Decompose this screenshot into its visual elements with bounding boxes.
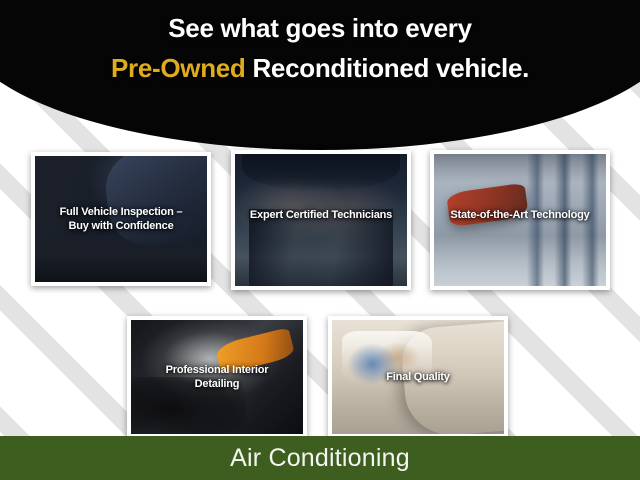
card-professional-interior-detailing[interactable]: Professional Interior Detailing: [127, 316, 307, 438]
headline-line-2: Pre-Owned Reconditioned vehicle.: [0, 50, 640, 86]
footer-banner: Air Conditioning: [0, 436, 640, 480]
card-caption-line-1: Final Quality: [386, 371, 449, 383]
card-caption: Final Quality: [336, 370, 500, 384]
card-final-quality[interactable]: Final Quality: [328, 316, 508, 438]
card-caption-line-1: State-of-the-Art Technology: [450, 209, 589, 221]
header-content: See what goes into every Pre-Owned Recon…: [0, 0, 640, 150]
card-caption: State-of-the-Art Technology: [438, 208, 602, 222]
promo-graphic: See what goes into every Pre-Owned Recon…: [0, 0, 640, 480]
card-caption-line-2: Detailing: [195, 378, 240, 390]
card-caption: Professional Interior Detailing: [135, 363, 299, 391]
card-full-vehicle-inspection[interactable]: Full Vehicle Inspection – Buy with Confi…: [31, 152, 211, 286]
card-caption: Expert Certified Technicians: [239, 208, 403, 222]
headline: See what goes into every Pre-Owned Recon…: [0, 10, 640, 86]
card-caption-line-1: Full Vehicle Inspection –: [60, 206, 183, 218]
headline-line-2-rest: Reconditioned vehicle.: [246, 53, 530, 83]
headline-highlight: Pre-Owned: [111, 53, 246, 83]
header-banner: See what goes into every Pre-Owned Recon…: [0, 0, 640, 150]
card-caption-line-1: Expert Certified Technicians: [250, 209, 392, 221]
headline-line-1: See what goes into every: [168, 13, 471, 43]
card-expert-certified-technicians[interactable]: Expert Certified Technicians: [231, 150, 411, 290]
footer-label: Air Conditioning: [230, 444, 410, 472]
card-caption-line-1: Professional Interior: [166, 364, 269, 376]
card-caption: Full Vehicle Inspection – Buy with Confi…: [39, 205, 203, 233]
card-caption-line-2: Buy with Confidence: [69, 220, 174, 232]
card-state-of-the-art-technology[interactable]: State-of-the-Art Technology: [430, 150, 610, 290]
